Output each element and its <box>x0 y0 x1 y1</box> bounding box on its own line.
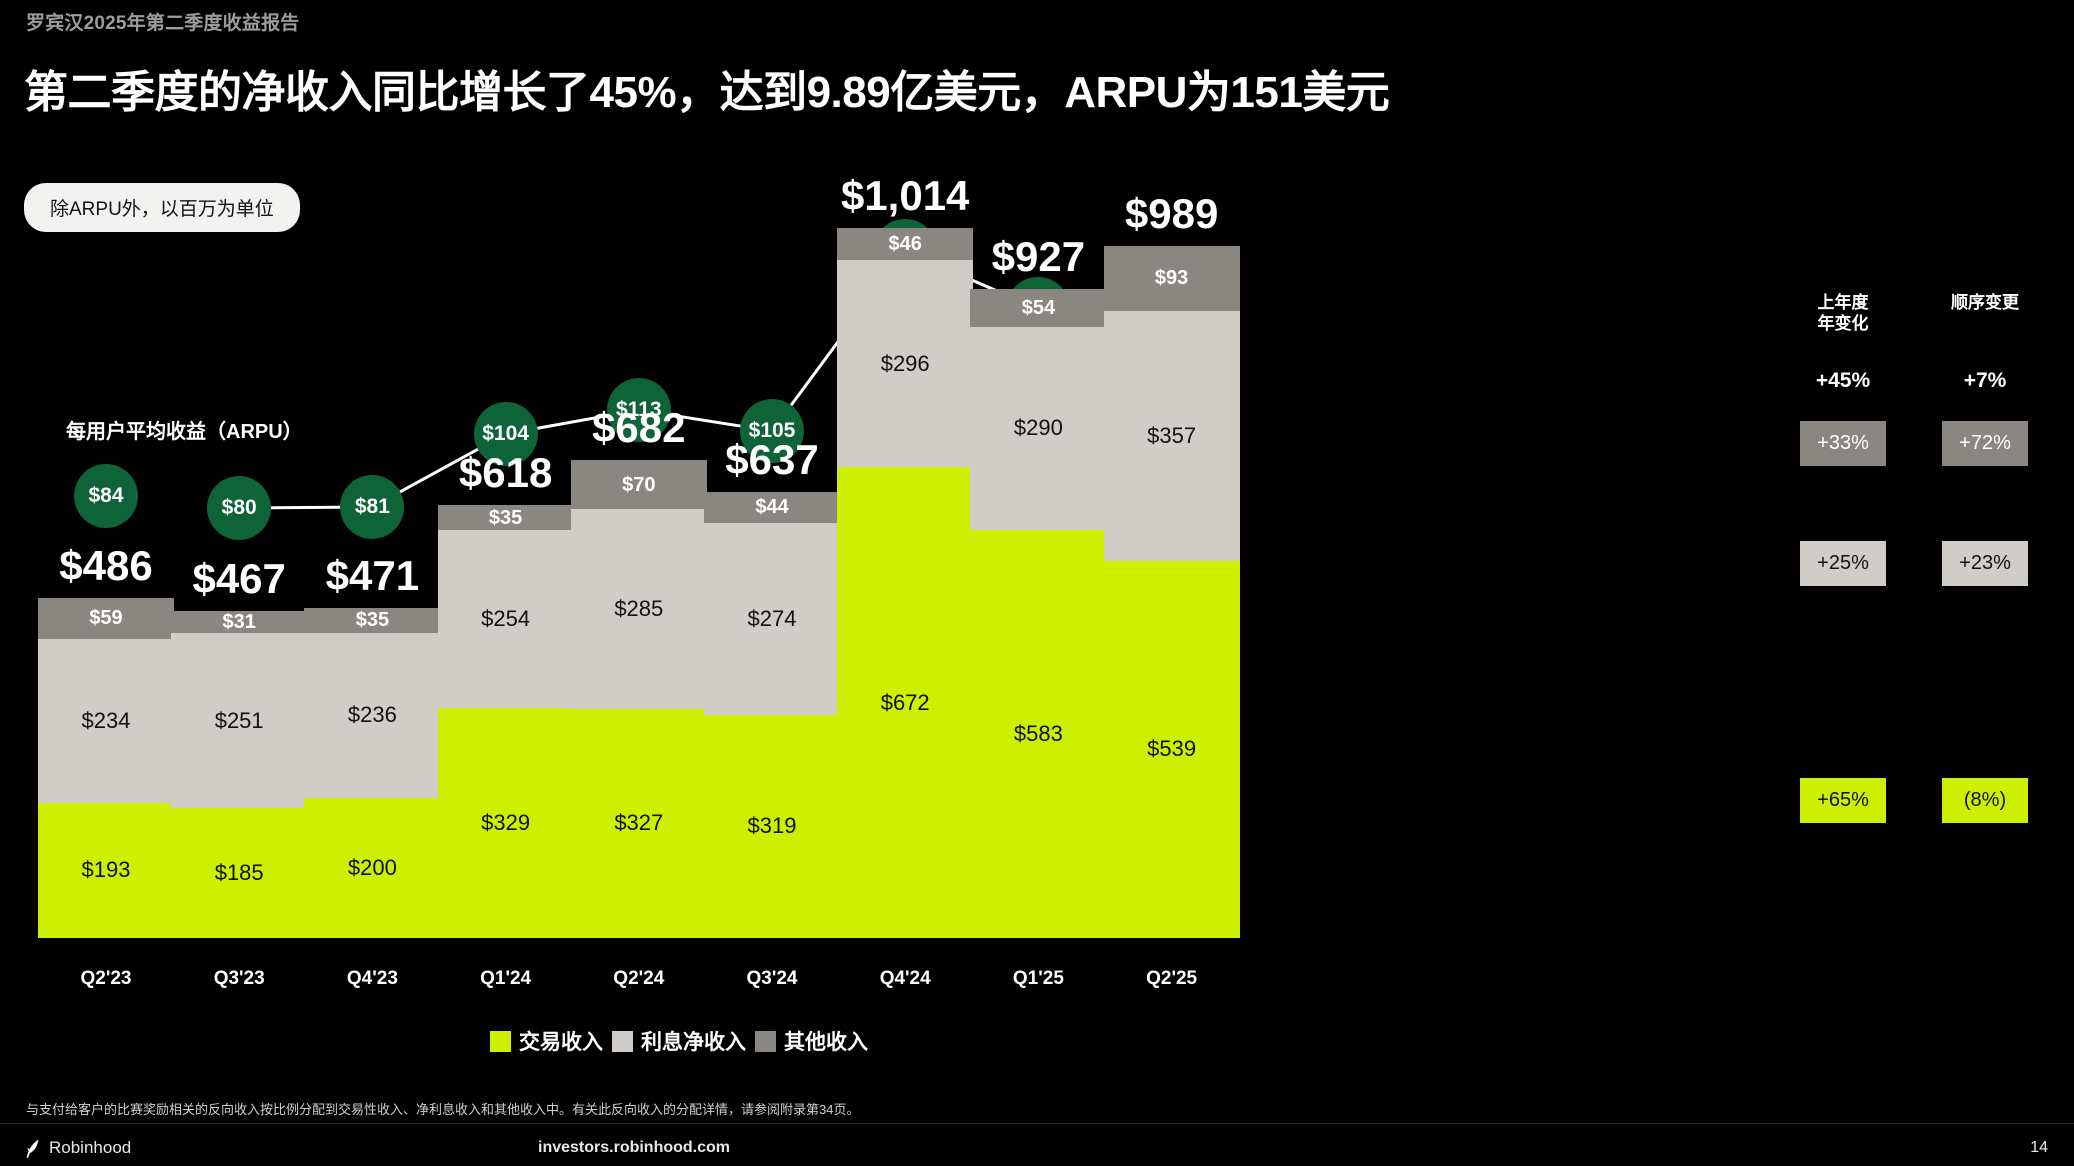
bar-segment-other: $44 <box>704 492 840 523</box>
x-axis-label: Q3'24 <box>747 968 798 990</box>
bar-segment-other: $35 <box>438 505 574 530</box>
arpu-bubble: $80 <box>207 476 271 540</box>
bar-segment-transaction: $583 <box>970 530 1106 938</box>
yoy-interest-change: +25% <box>1800 541 1886 586</box>
bar-segment-transaction-label: $200 <box>348 857 397 879</box>
investor-site-url: investors.robinhood.com <box>538 1139 730 1157</box>
footer-divider <box>0 1123 2074 1124</box>
bar-segment-transaction-label: $539 <box>1147 738 1196 760</box>
bar-segment-interest-label: $254 <box>481 608 530 630</box>
sequential-interest-change: +23% <box>1942 541 2028 586</box>
bar-total-label: $927 <box>992 233 1085 281</box>
x-axis-label: Q2'23 <box>81 968 132 990</box>
bar-column: $1,014$46$296$672 <box>837 228 973 938</box>
legend-label: 利息净收入 <box>641 1026 746 1056</box>
bar-segment-other-label: $31 <box>223 612 256 632</box>
bar-segment-other: $70 <box>571 460 707 509</box>
bar-column: $637$44$274$319 <box>704 492 840 938</box>
bar-segment-interest: $357 <box>1104 311 1240 561</box>
bar-segment-interest: $290 <box>970 327 1106 530</box>
bar-column: $927$54$290$583 <box>970 289 1106 938</box>
sequential-header-line1: 顺序变更 <box>1951 292 2019 313</box>
bar-segment-other: $54 <box>970 289 1106 327</box>
x-axis-label: Q1'24 <box>480 968 531 990</box>
bar-column: $467$31$251$185 <box>171 611 307 938</box>
bar-column: $471$35$236$200 <box>304 608 440 938</box>
bar-segment-transaction-label: $672 <box>881 692 930 714</box>
bar-segment-transaction: $185 <box>171 808 307 938</box>
x-axis-label: Q2'25 <box>1146 968 1197 990</box>
revenue-chart: 每用户平均收益（ARPU） $84$80$81$104$113$105$164$… <box>0 0 2074 1166</box>
feather-icon <box>26 1139 41 1158</box>
bar-segment-transaction-label: $193 <box>82 859 131 881</box>
bar-segment-interest-label: $236 <box>348 704 397 726</box>
bar-segment-transaction-label: $327 <box>614 812 663 834</box>
bar-total-label: $618 <box>459 449 552 497</box>
bar-total-label: $486 <box>59 542 152 590</box>
bar-total-label: $682 <box>592 404 685 452</box>
bar-segment-other: $59 <box>38 598 174 639</box>
yoy-header-line1: 上年度 <box>1818 292 1869 313</box>
legend-item: 其他收入 <box>755 1026 868 1056</box>
yoy-header-line2: 年变化 <box>1818 313 1869 334</box>
bar-segment-interest: $296 <box>837 260 973 467</box>
bar-column: $486$59$234$193 <box>38 598 174 938</box>
bar-segment-other-label: $44 <box>755 497 788 517</box>
bar-segment-interest-label: $357 <box>1147 425 1196 447</box>
x-axis-label: Q3'23 <box>214 968 265 990</box>
bar-total-label: $467 <box>192 555 285 603</box>
bar-segment-transaction-label: $185 <box>215 862 264 884</box>
bar-segment-other-label: $54 <box>1022 298 1055 318</box>
bar-segment-other: $31 <box>171 611 307 633</box>
bar-column: $682$70$285$327 <box>571 460 707 938</box>
bar-total-label: $471 <box>326 552 419 600</box>
sequential-total-change: +7% <box>1964 369 2007 393</box>
bar-segment-interest-label: $274 <box>748 608 797 630</box>
bar-segment-transaction: $200 <box>304 798 440 938</box>
bar-segment-other-label: $35 <box>356 610 389 630</box>
bar-column: $989$93$357$539 <box>1104 246 1240 938</box>
bar-total-label: $1,014 <box>841 172 969 220</box>
bar-segment-interest: $236 <box>304 633 440 798</box>
x-axis-label: Q1'25 <box>1013 968 1064 990</box>
bar-segment-transaction-label: $319 <box>748 815 797 837</box>
bar-segment-interest: $254 <box>438 530 574 708</box>
bar-segment-transaction: $672 <box>837 467 973 938</box>
yoy-other-change: +33% <box>1800 421 1886 466</box>
legend-swatch <box>612 1031 633 1052</box>
legend-item: 交易收入 <box>490 1026 603 1056</box>
sequential-column-header: 顺序变更 <box>1951 292 2019 313</box>
bar-segment-interest-label: $234 <box>82 710 131 732</box>
legend-item: 利息净收入 <box>612 1026 746 1056</box>
bar-segment-other: $35 <box>304 608 440 633</box>
bar-segment-transaction: $539 <box>1104 561 1240 938</box>
bar-segment-transaction: $329 <box>438 708 574 938</box>
bar-column: $618$35$254$329 <box>438 505 574 938</box>
bar-segment-other-label: $70 <box>622 475 655 495</box>
arpu-bubble: $81 <box>340 475 404 539</box>
footnote: 与支付给客户的比赛奖励相关的反向收入按比例分配到交易性收入、净利息收入和其他收入… <box>26 1099 859 1118</box>
bar-segment-interest-label: $285 <box>614 598 663 620</box>
bar-segment-interest-label: $290 <box>1014 417 1063 439</box>
arpu-bubble: $84 <box>74 464 138 528</box>
bar-segment-transaction-label: $583 <box>1014 723 1063 745</box>
bar-segment-interest-label: $251 <box>215 710 264 732</box>
chart-legend: 交易收入利息净收入其他收入 <box>490 1026 868 1056</box>
yoy-total-change: +45% <box>1816 369 1870 393</box>
legend-swatch <box>755 1031 776 1052</box>
x-axis-label: Q4'24 <box>880 968 931 990</box>
robinhood-logo: Robinhood <box>26 1138 131 1158</box>
sequential-other-change: +72% <box>1942 421 2028 466</box>
bar-total-label: $989 <box>1125 190 1218 238</box>
bar-segment-interest-label: $296 <box>881 353 930 375</box>
bar-segment-other-label: $46 <box>889 234 922 254</box>
bar-segment-interest: $234 <box>38 639 174 803</box>
bar-segment-interest: $274 <box>704 523 840 715</box>
bar-segment-other-label: $59 <box>89 608 122 628</box>
bar-segment-other-label: $35 <box>489 508 522 528</box>
sequential-transaction-change: (8%) <box>1942 778 2028 823</box>
arpu-series-caption: 每用户平均收益（ARPU） <box>66 415 303 444</box>
bar-segment-other-label: $93 <box>1155 268 1188 288</box>
bar-segment-interest: $285 <box>571 509 707 709</box>
brand-name: Robinhood <box>49 1138 131 1158</box>
bar-segment-transaction-label: $329 <box>481 812 530 834</box>
bar-segment-transaction: $319 <box>704 715 840 938</box>
bar-segment-other: $93 <box>1104 246 1240 311</box>
x-axis-label: Q4'23 <box>347 968 398 990</box>
page-number: 14 <box>2030 1139 2048 1157</box>
bar-segment-other: $46 <box>837 228 973 260</box>
legend-swatch <box>490 1031 511 1052</box>
bar-segment-interest: $251 <box>171 633 307 809</box>
yoy-column-header: 上年度 年变化 <box>1818 292 1869 335</box>
x-axis-label: Q2'24 <box>613 968 664 990</box>
legend-label: 交易收入 <box>519 1026 603 1056</box>
bar-segment-transaction: $193 <box>38 803 174 938</box>
bar-total-label: $637 <box>725 436 818 484</box>
yoy-transaction-change: +65% <box>1800 778 1886 823</box>
bar-segment-transaction: $327 <box>571 709 707 938</box>
legend-label: 其他收入 <box>784 1026 868 1056</box>
